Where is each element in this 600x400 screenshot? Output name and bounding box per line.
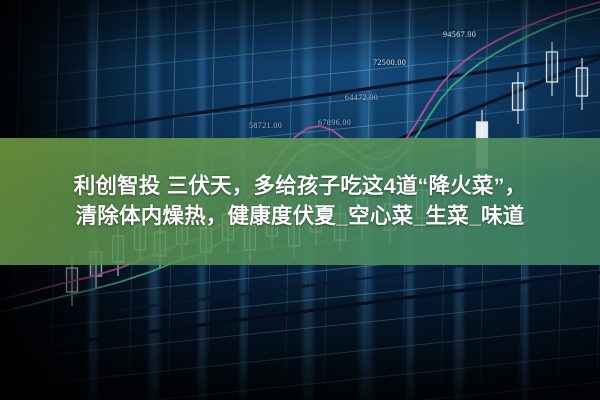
headline-text-block: 利创智投 三伏天，多给孩子吃这4道“降火菜”， 清除体内燥热，健康度伏夏_空心菜…	[0, 138, 600, 265]
chart-banner-image: 94567.0072500.0064472.0058721.0067896.00…	[0, 0, 600, 400]
price-label: 64472.00	[345, 93, 378, 102]
headline-line-1: 利创智投 三伏天，多给孩子吃这4道“降火菜”，	[74, 173, 527, 201]
price-label: 94567.00	[443, 30, 476, 39]
price-label: 58721.00	[249, 121, 282, 130]
headline-line-2: 清除体内燥热，健康度伏夏_空心菜_生菜_味道	[76, 203, 525, 231]
price-label: 67896.00	[318, 118, 351, 127]
price-label: 72500.00	[373, 58, 406, 67]
